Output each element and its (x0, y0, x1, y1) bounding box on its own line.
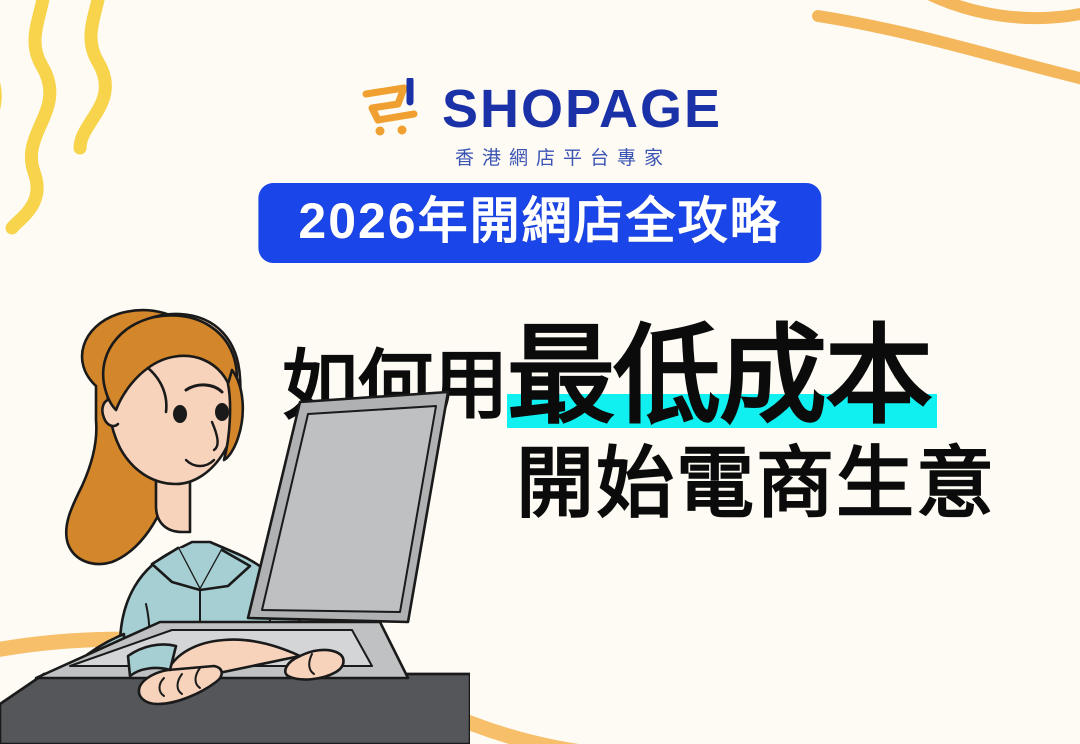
headline-emphasis-wrap: 最低成本 (507, 322, 931, 430)
logo-row: SHOPAGE (358, 78, 722, 140)
year-guide-badge: 2026年開網店全攻略 (258, 183, 821, 263)
shopping-cart-icon (358, 78, 430, 140)
woman-typing-on-laptop-illustration (0, 274, 470, 744)
logo-wordmark: SHOPAGE (442, 82, 722, 136)
headline-line-2: 開始電商生意 (516, 444, 1072, 522)
headline-emphasis: 最低成本 (507, 315, 931, 436)
poster-canvas: SHOPAGE 香港網店平台專家 2026年開網店全攻略 如何用 最低成本 開始… (0, 0, 1080, 744)
logo-tagline: 香港網店平台專家 (455, 149, 671, 168)
badge-label: 2026年開網店全攻略 (298, 194, 781, 248)
brand-logo: SHOPAGE 香港網店平台專家 (0, 78, 1080, 168)
